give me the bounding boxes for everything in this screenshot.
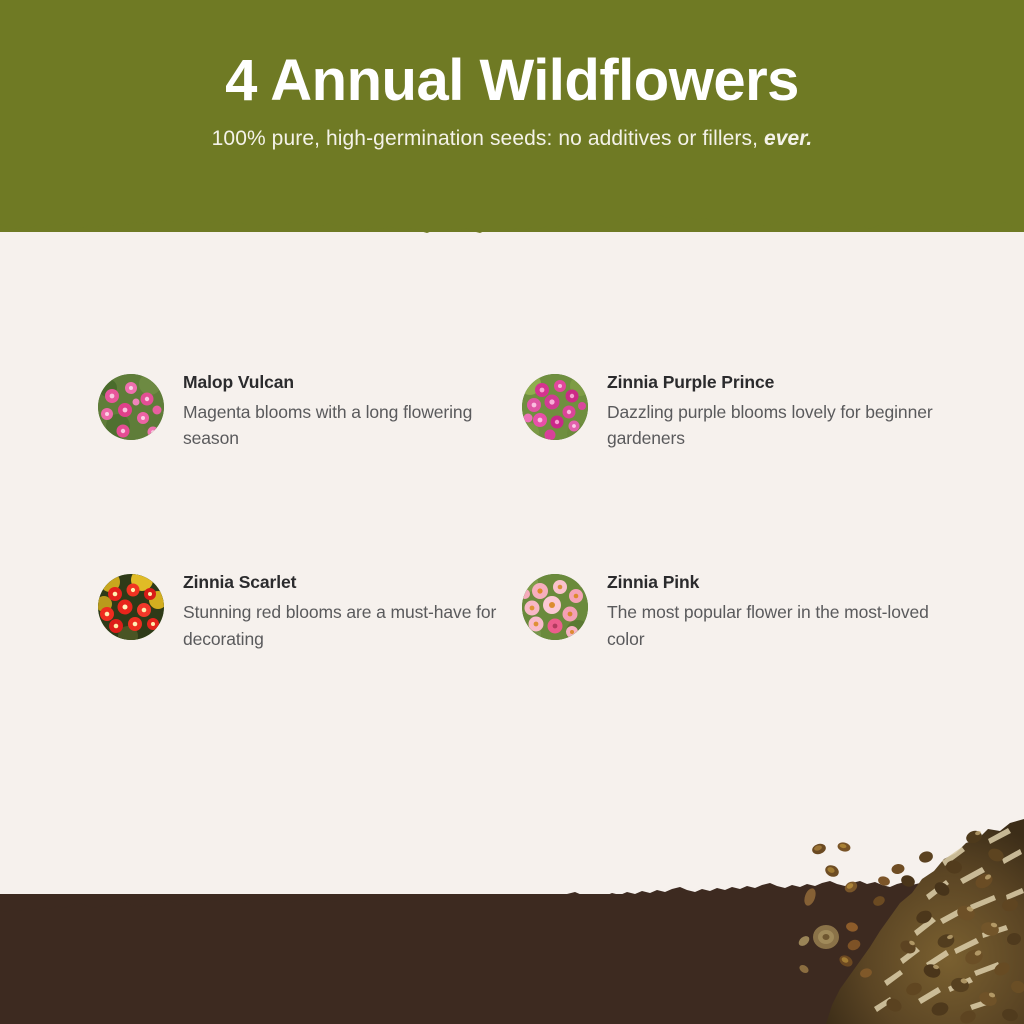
malop-vulcan-photo — [98, 374, 164, 440]
header-banner: 4 Annual Wildflowers 100% pure, high-ger… — [0, 0, 1024, 232]
subtitle-main-text: 100% pure, high-germination seeds: no ad… — [212, 127, 758, 150]
page-subtitle: 100% pure, high-germination seeds: no ad… — [0, 127, 1024, 151]
zinnia-pink-photo — [522, 574, 588, 640]
feature-title: Malop Vulcan — [183, 372, 522, 394]
feature-title: Zinnia Scarlet — [183, 572, 522, 594]
list-item: Zinnia Pink The most popular flower in t… — [522, 562, 944, 652]
feature-title: Zinnia Pink — [607, 572, 944, 594]
feature-text-block: Zinnia Purple Prince Dazzling purple blo… — [607, 362, 944, 452]
feature-title: Zinnia Purple Prince — [607, 372, 944, 394]
product-infographic: 4 Annual Wildflowers 100% pure, high-ger… — [0, 0, 1024, 1024]
list-item: Zinnia Purple Prince Dazzling purple blo… — [522, 362, 944, 452]
feature-description: Magenta blooms with a long flowering sea… — [183, 399, 522, 452]
feature-list: Malop Vulcan Magenta blooms with a long … — [98, 362, 944, 652]
feature-description: The most popular flower in the most-love… — [607, 599, 944, 652]
feature-text-block: Zinnia Scarlet Stunning red blooms are a… — [183, 562, 522, 652]
list-item: Zinnia Scarlet Stunning red blooms are a… — [98, 562, 522, 652]
header-content: 4 Annual Wildflowers 100% pure, high-ger… — [0, 0, 1024, 151]
page-title: 4 Annual Wildflowers — [0, 50, 1024, 113]
feature-description: Dazzling purple blooms lovely for beginn… — [607, 399, 944, 452]
footer-banner — [0, 894, 1024, 1024]
subtitle-emphasis-text: ever. — [764, 127, 812, 150]
zinnia-scarlet-photo — [98, 574, 164, 640]
feature-text-block: Malop Vulcan Magenta blooms with a long … — [183, 362, 522, 452]
zinnia-purple-prince-photo — [522, 374, 588, 440]
list-item: Malop Vulcan Magenta blooms with a long … — [98, 362, 522, 452]
feature-text-block: Zinnia Pink The most popular flower in t… — [607, 562, 944, 652]
feature-description: Stunning red blooms are a must-have for … — [183, 599, 522, 652]
